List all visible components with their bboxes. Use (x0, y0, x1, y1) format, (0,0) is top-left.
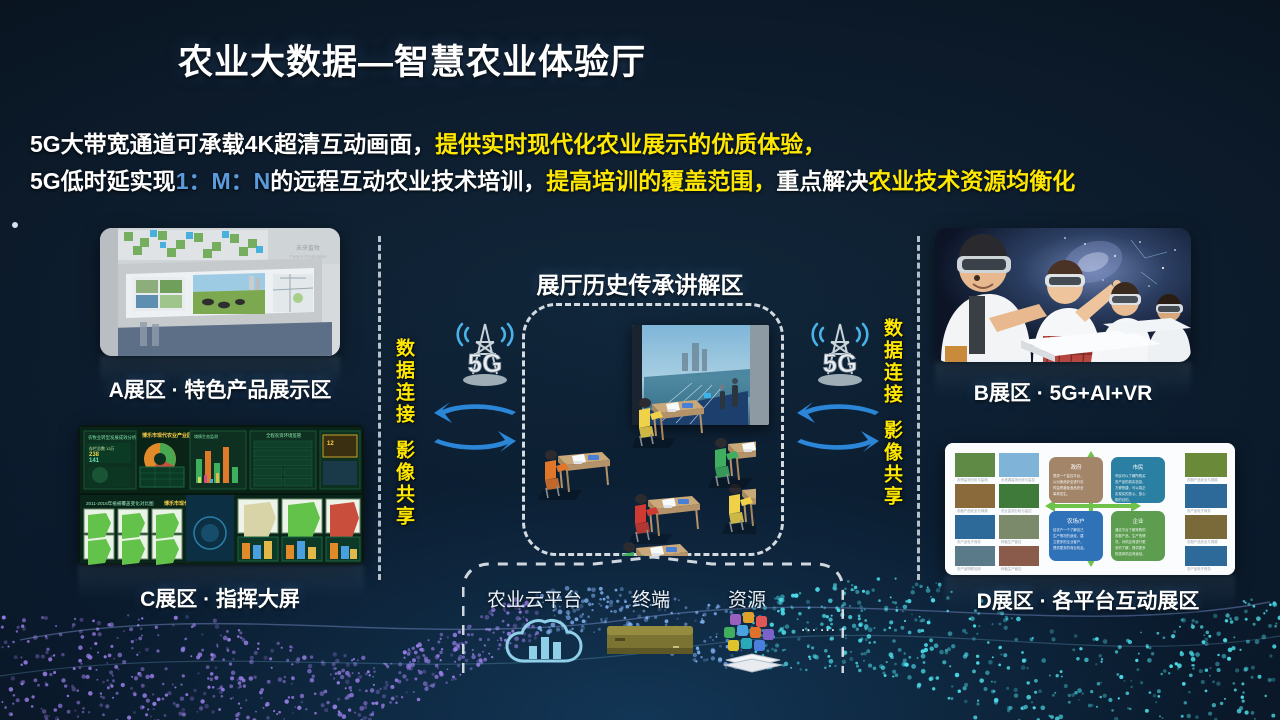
svg-text:农产品电子商务: 农产品电子商务 (957, 539, 981, 544)
right-image-share-label: 影像共享 (878, 420, 905, 508)
center-section-title: 展厅历史传承讲解区 (440, 266, 840, 300)
quadrant-enterprise-label: 企业 (1133, 517, 1144, 525)
svg-text:提供一个监控平台，: 提供一个监控平台， (1053, 473, 1084, 478)
svg-text:的选择供应商途径。: 的选择供应商途径。 (1115, 551, 1146, 556)
exhibit-d-image: 农情监测分析与监测水资源监测分析与监控 农副产品安全与溯源农业监测分析与监控 农… (945, 443, 1235, 575)
svg-text:存栏总数 13万: 存栏总数 13万 (89, 445, 115, 451)
exhibit-d-caption: D展区 · 各平台互动展区 (930, 585, 1246, 615)
arrows-right (795, 398, 881, 460)
bottom-item-label-3: …… (800, 616, 838, 636)
svg-text:博乐市现代农业产业园: 博乐市现代农业产业园 (142, 432, 192, 439)
subtitle-block: 5G大带宽通道可承载4K超清互动画面，提供实时现代化农业展示的优质体验， 5G低… (30, 126, 1260, 200)
svg-text:2011-2016年植被覆盖变化对比图: 2011-2016年植被覆盖变化对比图 (86, 500, 154, 507)
arrows-left (432, 398, 518, 460)
bullet-dot (12, 222, 18, 228)
exhibit-a-wall-heading: 未来畜牧 (296, 244, 320, 252)
svg-text:种植生产管控: 种植生产管控 (1001, 539, 1022, 544)
svg-text:141: 141 (89, 458, 100, 464)
svg-text:提供更多的商业机会。: 提供更多的商业机会。 (1053, 545, 1087, 550)
svg-text:购的目的。: 购的目的。 (1115, 497, 1132, 502)
svg-text:农副产品，生产的情: 农副产品，生产的情 (1115, 533, 1146, 538)
subtitle-line1-highlight: 提供实时现代化农业展示的优质体验， (435, 131, 826, 157)
subtitle-line2-highlight-a: 提高培训的覆盖范围， (546, 168, 776, 194)
page-title: 农业大数据—智慧农业体验厅 (178, 34, 646, 85)
svg-text:农副产品安全与溯源: 农副产品安全与溯源 (1187, 539, 1218, 544)
bottom-item-label-0: 农业云平台 (487, 585, 582, 612)
svg-text:农产品物联检测: 农产品物联检测 (957, 566, 981, 571)
quadrant-citizen-label: 市民 (1133, 463, 1144, 471)
svg-text:农情监测分析与监测: 农情监测分析与监测 (957, 477, 988, 482)
svg-text:农产品的真实信息，: 农产品的真实信息， (1115, 479, 1146, 484)
tower-right-5g-text: 5G (823, 348, 858, 378)
slide-root: 农业大数据—智慧农业体验厅 5G大带宽通道可承载4K超清互动画面，提供实时现代化… (0, 0, 1280, 720)
svg-text:多的了解，提供更多: 多的了解，提供更多 (1115, 545, 1146, 550)
subtitle-line2-highlight-b: 农业技术资源均衡化 (868, 168, 1075, 194)
tower-right-wrap: 5G (805, 312, 875, 392)
center-classroom-illustration (530, 388, 756, 556)
svg-text:以对食品安全进行实: 以对食品安全进行实 (1053, 479, 1084, 484)
subtitle-line2-plain-c: 重点解决 (776, 168, 868, 194)
left-data-connection-label: 数据连接 (390, 338, 417, 426)
svg-text:墒情生态监测: 墒情生态监测 (194, 433, 218, 439)
svg-text:农产品电子商务: 农产品电子商务 (1187, 508, 1211, 513)
svg-text:种植生产管控: 种植生产管控 (1001, 566, 1022, 571)
subtitle-line2-plain-b: 的远程互动农业技术培训， (270, 168, 546, 194)
svg-text:农副产品安全与溯源: 农副产品安全与溯源 (957, 508, 988, 513)
apps-books-icon (718, 612, 788, 674)
exhibit-a-wall-sub: Future Production (290, 254, 327, 259)
svg-text:农牧业转型发展成效分析: 农牧业转型发展成效分析 (88, 434, 137, 441)
svg-text:立更多的企业客户，: 立更多的企业客户， (1053, 539, 1084, 544)
subtitle-line2-plain-a: 5G低时延实现 (30, 168, 176, 194)
right-data-connection-label: 数据连接 (878, 318, 905, 406)
svg-text:生产情况的途径，建: 生产情况的途径，建 (1053, 533, 1084, 538)
exhibit-b-image (935, 228, 1191, 362)
svg-text:全程农资环境监管: 全程农资环境监管 (266, 432, 302, 439)
tower-left-wrap: 5G (450, 312, 520, 392)
bottom-item-label-2: 资源 (728, 585, 766, 612)
exhibit-a-caption: A展区 · 特色产品展示区 (62, 374, 378, 404)
svg-text:况，对供应商进行更: 况，对供应商进行更 (1115, 539, 1146, 544)
svg-text:实现买的放心、放心: 实现买的放心、放心 (1115, 491, 1146, 496)
subtitle-line2-blue: 1：M：N (176, 168, 271, 194)
svg-text:事故发生。: 事故发生。 (1053, 491, 1070, 496)
set-top-box-icon (605, 622, 695, 660)
svg-text:12: 12 (327, 441, 334, 447)
svg-text:农产品电子商务: 农产品电子商务 (1187, 566, 1211, 571)
svg-text:方便快捷，可以真正: 方便快捷，可以真正 (1115, 485, 1146, 490)
quadrant-gov-label: 政府 (1071, 463, 1082, 471)
svg-text:农业监测分析与监控: 农业监测分析与监控 (1001, 508, 1032, 513)
subtitle-line1-plain: 5G大带宽通道可承载4K超清互动画面， (30, 131, 435, 157)
subtitle-line-1: 5G大带宽通道可承载4K超清互动画面，提供实时现代化农业展示的优质体验， (30, 126, 1260, 163)
separator-right (917, 236, 920, 580)
exhibit-c-image: 农牧业转型发展成效分析 存栏总数 13万 238 141 博乐市现代农业产业园 (78, 425, 364, 565)
exhibit-a-image: 未来畜牧 Future Production (100, 228, 340, 356)
svg-text:时监督避免食品安全: 时监督避免食品安全 (1053, 485, 1084, 490)
svg-text:水资源监测分析与监控: 水资源监测分析与监控 (1001, 477, 1036, 482)
exhibit-card-d[interactable]: 农情监测分析与监测水资源监测分析与监控 农副产品安全与溯源农业监测分析与监控 农… (945, 443, 1235, 575)
svg-text:市民可以了解所购买: 市民可以了解所购买 (1115, 473, 1146, 478)
svg-text:通过平台了解采购的: 通过平台了解采购的 (1115, 527, 1146, 532)
separator-left (378, 236, 381, 580)
exhibit-card-c[interactable]: 农牧业转型发展成效分析 存栏总数 13万 238 141 博乐市现代农业产业园 (78, 425, 364, 565)
bottom-item-label-1: 终端 (632, 585, 670, 612)
exhibit-b-caption: B展区 · 5G+AI+VR (930, 377, 1196, 407)
left-image-share-label: 影像共享 (390, 440, 417, 528)
exhibit-card-a[interactable]: 未来畜牧 Future Production (100, 228, 340, 356)
tower-left-5g-text: 5G (468, 348, 503, 378)
svg-text:农副产品安全与溯源: 农副产品安全与溯源 (1187, 477, 1218, 482)
cloud-chart-icon (505, 616, 583, 664)
exhibit-card-b[interactable] (935, 228, 1191, 362)
subtitle-line-2: 5G低时延实现1：M：N的远程互动农业技术培训，提高培训的覆盖范围，重点解决农业… (30, 163, 1260, 200)
svg-text:给农户一个了解自己: 给农户一个了解自己 (1053, 527, 1084, 532)
quadrant-farm-label: 农场/户 (1067, 517, 1085, 525)
exhibit-c-caption: C展区 · 指挥大屏 (62, 583, 378, 613)
